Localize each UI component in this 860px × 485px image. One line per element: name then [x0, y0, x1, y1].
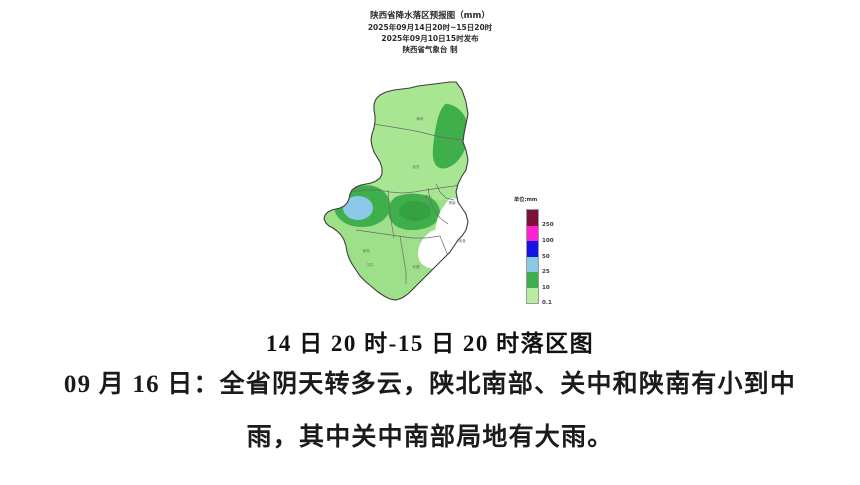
map-svg: 榆林 延安 铜川 渭南 宝鸡 西安 商洛 汉中 安康: [316, 80, 516, 320]
forecast-line-1: 09 月 16 日：全省阴天转多云，陕北南部、关中和陕南有小到中: [0, 372, 860, 397]
legend-segment-gt250: [527, 210, 538, 226]
map-title-line-1: 陕西省降水落区预报图（mm）: [0, 12, 860, 21]
forecast-line-2: 雨，其中关中南部局地有大雨。: [0, 425, 860, 450]
map-title-line-4: 陕西省气象台 制: [0, 46, 860, 54]
region-label-weinan: 渭南: [448, 200, 456, 205]
figure-caption: 14 日 20 时-15 日 20 时落区图: [0, 324, 860, 358]
legend-tick-100: 100: [542, 238, 554, 244]
region-label-shangluo: 商洛: [458, 238, 466, 243]
map-title-line-2: 2025年09月14日20时~15日20时: [0, 24, 860, 32]
shaanxi-province-map: 榆林 延安 铜川 渭南 宝鸡 西安 商洛 汉中 安康: [316, 80, 516, 320]
legend-segment-0.1-10: [527, 288, 538, 304]
legend-tick-labels: 250 100 50 25 10 0.1: [542, 209, 572, 304]
legend-tick-25: 25: [542, 269, 550, 275]
legend-tick-250: 250: [542, 222, 554, 228]
legend-tick-0.1: 0.1: [542, 300, 552, 306]
legend-tick-50: 50: [542, 254, 550, 260]
legend-tick-10: 10: [542, 285, 550, 291]
fill-baoji-west-heavy-core: [343, 196, 373, 220]
legend-segment-25-50: [527, 257, 538, 273]
region-label-hanzhong: 汉中: [366, 262, 374, 267]
map-fill-layer: [316, 80, 516, 320]
region-label-baoji: 宝鸡: [362, 248, 370, 253]
forecast-map-figure: 陕西省降水落区预报图（mm） 2025年09月14日20时~15日20时 202…: [0, 0, 860, 320]
legend-segment-100-250: [527, 226, 538, 242]
region-label-ankang: 安康: [412, 264, 420, 269]
legend-colorbar: [526, 209, 539, 304]
region-label-tongchuan: 铜川: [424, 194, 432, 199]
region-label-xian: 西安: [410, 216, 418, 221]
region-label-yulin: 榆林: [416, 116, 424, 121]
legend-segment-50-100: [527, 241, 538, 257]
legend-unit-label: 单位:mm: [514, 196, 537, 203]
map-title-block: 陕西省降水落区预报图（mm） 2025年09月14日20时~15日20时 202…: [0, 12, 860, 54]
region-label-yanan: 延安: [412, 164, 420, 169]
precipitation-legend: 单位:mm 250 100 50 25 10 0.1: [512, 196, 574, 314]
legend-segment-10-25: [527, 272, 538, 288]
map-title-line-3: 2025年09月10日15时发布: [0, 35, 860, 43]
forecast-paragraph: 09 月 16 日：全省阴天转多云，陕北南部、关中和陕南有小到中 雨，其中关中南…: [0, 372, 860, 450]
